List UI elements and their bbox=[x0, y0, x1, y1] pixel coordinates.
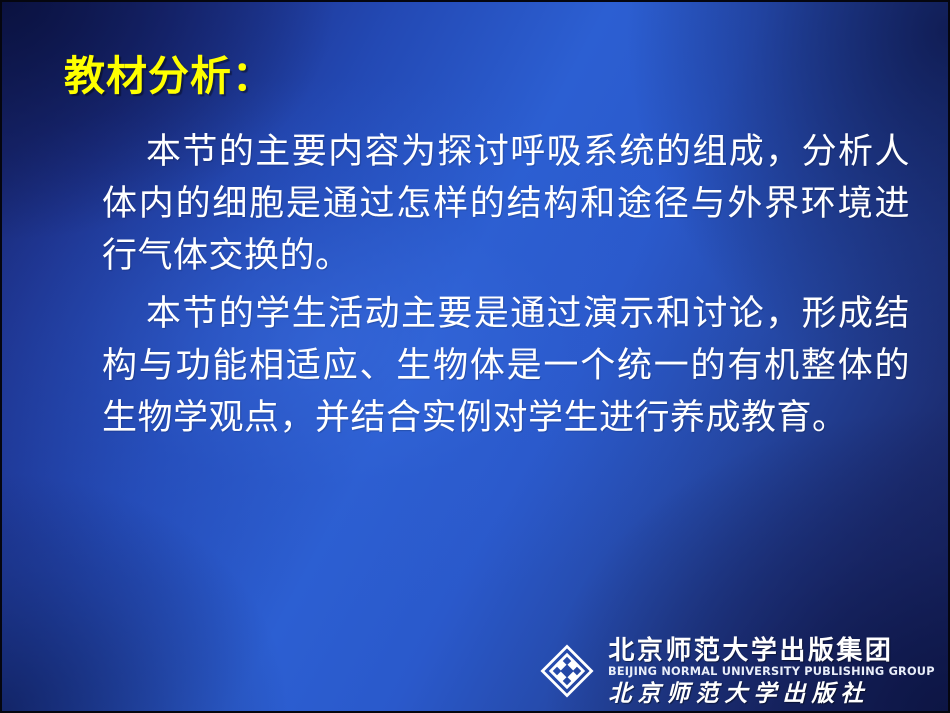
body-paragraph-2: 本节的学生活动主要是通过演示和讨论，形成结构与功能相适应、生物体是一个统一的有机… bbox=[102, 288, 910, 444]
publisher-name-cn: 北京师范大学出版集团 bbox=[608, 638, 893, 664]
slide-body: 本节的主要内容为探讨呼吸系统的组成，分析人体内的细胞是通过怎样的结构和途径与外界… bbox=[102, 126, 910, 444]
body-paragraph-1: 本节的主要内容为探讨呼吸系统的组成，分析人体内的细胞是通过怎样的结构和途径与外界… bbox=[102, 126, 910, 282]
slide-content: 教材分析： 本节的主要内容为探讨呼吸系统的组成，分析人体内的细胞是通过怎样的结构… bbox=[2, 2, 948, 711]
diamond-quad-emblem-icon bbox=[536, 640, 598, 702]
publisher-logo: 北京师范大学出版集团 BEIJING NORMAL UNIVERSITY PUB… bbox=[536, 638, 940, 706]
publisher-press-name-cn: 北京师范大学出版社 bbox=[608, 682, 869, 705]
presentation-slide: 教材分析： 本节的主要内容为探讨呼吸系统的组成，分析人体内的细胞是通过怎样的结构… bbox=[0, 0, 950, 713]
slide-title: 教材分析： bbox=[64, 54, 274, 100]
publisher-logo-text: 北京师范大学出版集团 BEIJING NORMAL UNIVERSITY PUB… bbox=[608, 638, 940, 706]
publisher-name-en: BEIJING NORMAL UNIVERSITY PUBLISHING GRO… bbox=[608, 666, 935, 678]
